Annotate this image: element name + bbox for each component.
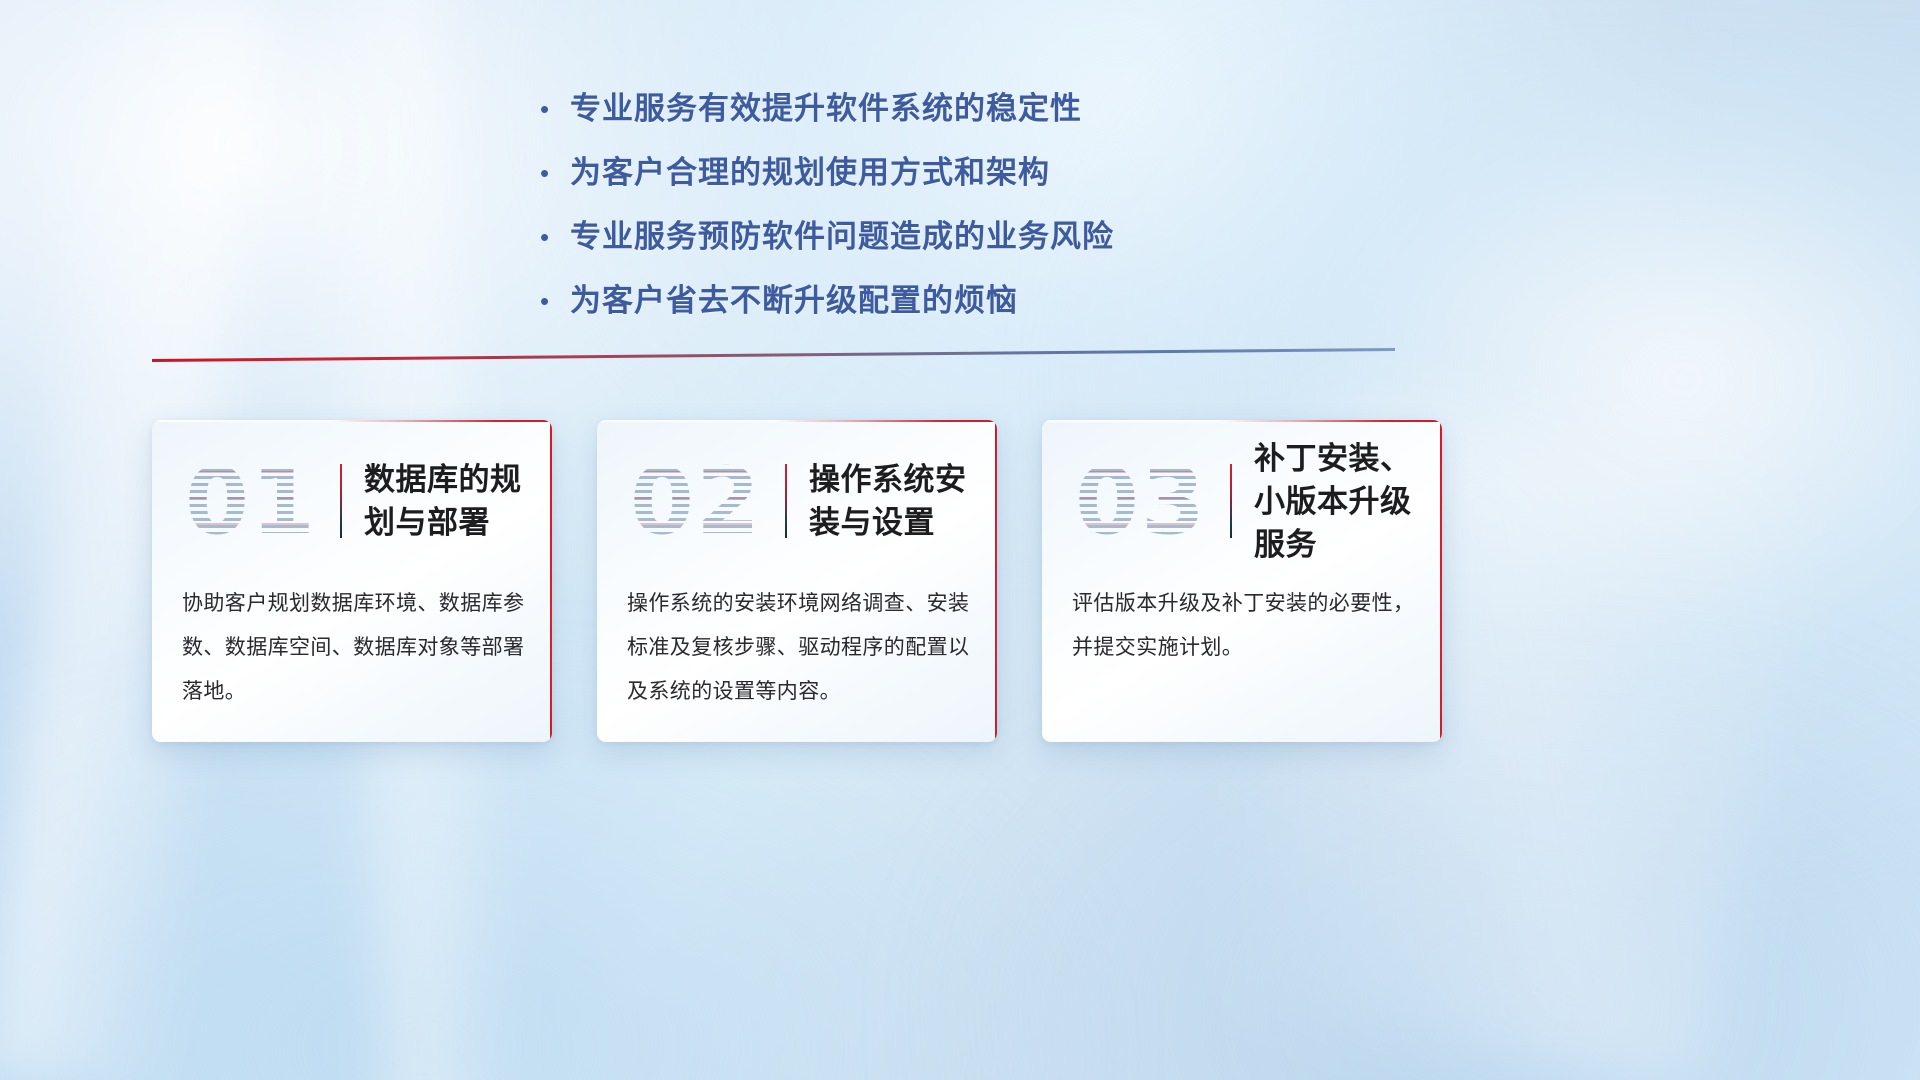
service-card-02[interactable]: 02 02 操作系统安装与设置 操作系统的安装环境网络调查、安装标准及复核步骤、…	[597, 420, 997, 742]
service-card-row: 01 01 数据库的规划与部署 协助客户规划数据库环境、数据库参数、数据库空间、…	[152, 420, 1768, 745]
card-title: 操作系统安装与设置	[809, 458, 997, 544]
bullet-item: • 为客户合理的规划使用方式和架构	[540, 152, 1360, 194]
divider-wedge-icon	[152, 348, 1395, 364]
card-top-accent	[1042, 420, 1442, 422]
service-card-03[interactable]: 03 03 补丁安装、小版本升级服务 评估版本升级及补丁安装的必要性，并提交实施…	[1042, 420, 1442, 742]
card-body-text: 协助客户规划数据库环境、数据库参数、数据库空间、数据库对象等部署落地。	[182, 582, 526, 714]
card-title-divider	[340, 464, 342, 538]
card-number-text-overlay: 01	[166, 445, 336, 557]
bullet-item: • 专业服务有效提升软件系统的稳定性	[540, 88, 1360, 130]
card-top-accent	[597, 420, 997, 422]
card-header: 02 02 操作系统安装与设置	[597, 442, 997, 560]
card-title-divider	[785, 464, 787, 538]
card-header: 03 03 补丁安装、小版本升级服务	[1042, 442, 1442, 560]
bullet-marker-icon: •	[540, 280, 570, 322]
card-number-watermark: 02 02	[611, 445, 781, 557]
card-number-watermark: 01 01	[166, 445, 336, 557]
card-body-text: 评估版本升级及补丁安装的必要性，并提交实施计划。	[1072, 582, 1416, 670]
bullet-marker-icon: •	[540, 88, 570, 130]
bullet-text: 专业服务预防软件问题造成的业务风险	[570, 216, 1114, 258]
card-number-watermark: 03 03	[1056, 445, 1226, 557]
bullet-item: • 为客户省去不断升级配置的烦恼	[540, 280, 1360, 322]
bullet-item: • 专业服务预防软件问题造成的业务风险	[540, 216, 1360, 258]
service-card-01[interactable]: 01 01 数据库的规划与部署 协助客户规划数据库环境、数据库参数、数据库空间、…	[152, 420, 552, 742]
card-title-divider	[1230, 464, 1232, 538]
benefits-bullet-list: • 专业服务有效提升软件系统的稳定性 • 为客户合理的规划使用方式和架构 • 专…	[540, 88, 1360, 344]
section-divider	[152, 348, 1395, 364]
card-title: 数据库的规划与部署	[364, 458, 552, 544]
bullet-text: 为客户合理的规划使用方式和架构	[570, 152, 1050, 194]
bullet-marker-icon: •	[540, 216, 570, 258]
bullet-marker-icon: •	[540, 152, 570, 194]
bullet-text: 为客户省去不断升级配置的烦恼	[570, 280, 1018, 322]
card-number-text-overlay: 02	[611, 445, 781, 557]
card-top-accent	[152, 420, 552, 422]
card-body-text: 操作系统的安装环境网络调查、安装标准及复核步骤、驱动程序的配置以及系统的设置等内…	[627, 582, 971, 714]
card-title: 补丁安装、小版本升级服务	[1254, 437, 1442, 566]
bullet-text: 专业服务有效提升软件系统的稳定性	[570, 88, 1082, 130]
card-number-text-overlay: 03	[1056, 445, 1226, 557]
card-header: 01 01 数据库的规划与部署	[152, 442, 552, 560]
